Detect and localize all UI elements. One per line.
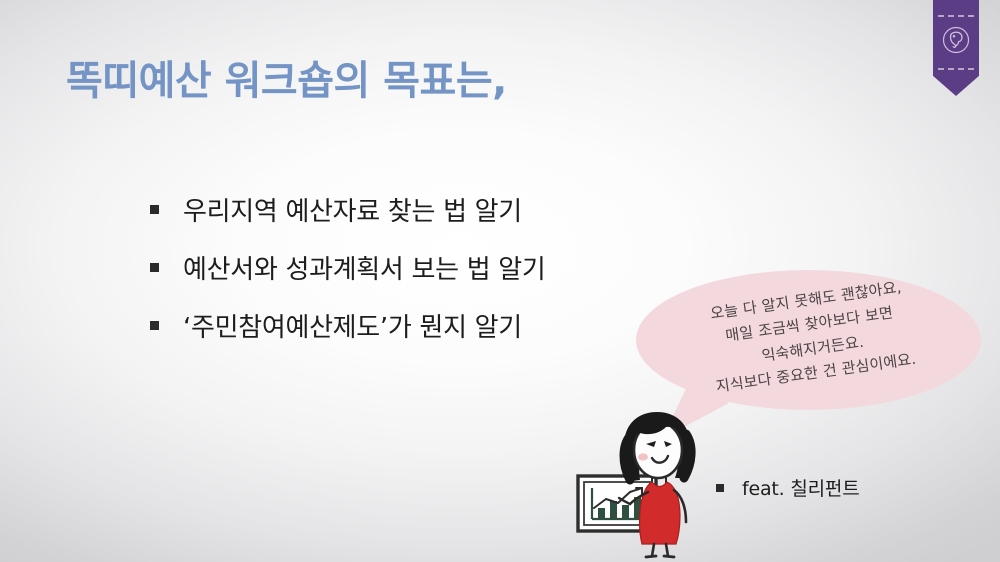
list-item: 예산서와 성과계획서 보는 법 알기 [150, 238, 710, 296]
square-bullet-icon [150, 321, 159, 330]
slide-canvas: 똑띠예산 워크숍의 목표는, 우리지역 예산자료 찾는 법 알기 예산서와 성과… [0, 0, 1000, 562]
credit-line: feat. 칠리펀트 [716, 474, 859, 501]
elephant-circle-logo-icon [941, 25, 971, 55]
ribbon-dash-top [938, 15, 974, 17]
objective-list: 우리지역 예산자료 찾는 법 알기 예산서와 성과계획서 보는 법 알기 ‘주민… [150, 180, 710, 354]
square-bullet-icon [150, 263, 159, 272]
ribbon-dash-bottom [938, 68, 974, 70]
slide-title: 똑띠예산 워크숍의 목표는, [66, 48, 507, 106]
list-item: 우리지역 예산자료 찾는 법 알기 [150, 180, 710, 238]
list-item: ‘주민참여예산제도’가 뭔지 알기 [150, 296, 710, 354]
list-item-label: 우리지역 예산자료 찾는 법 알기 [183, 191, 522, 228]
square-bullet-icon [716, 484, 724, 492]
list-item-label: ‘주민참여예산제도’가 뭔지 알기 [183, 307, 522, 344]
list-item-label: 예산서와 성과계획서 보는 법 알기 [183, 249, 546, 286]
brand-ribbon [933, 0, 979, 96]
square-bullet-icon [150, 205, 159, 214]
credit-label: feat. 칠리펀트 [742, 474, 859, 501]
woman-presenting-chart-illustration [572, 404, 732, 562]
